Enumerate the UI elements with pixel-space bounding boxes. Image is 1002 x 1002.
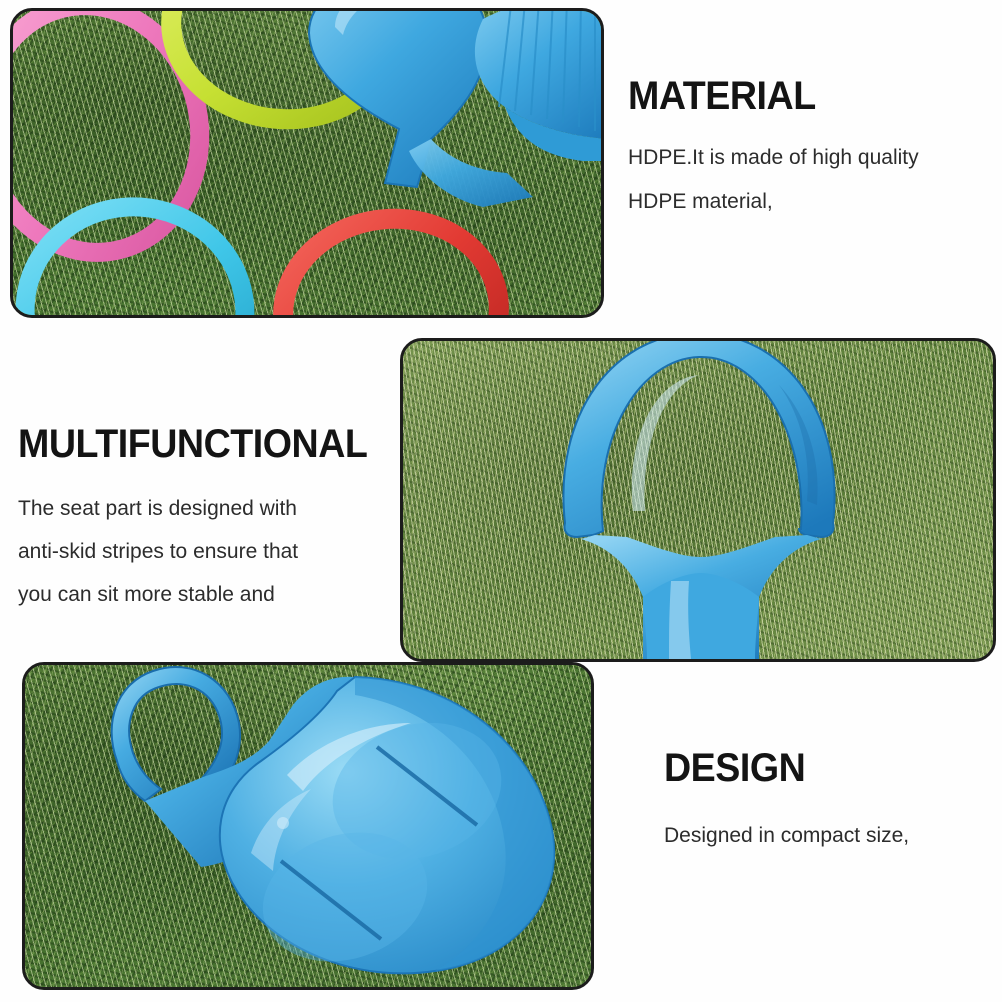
- text-block-material: MATERIAL HDPE.It is made of high quality…: [628, 76, 919, 214]
- body-line-multifunctional-2: anti-skid stripes to ensure that: [18, 540, 390, 564]
- text-block-multifunctional: MULTIFUNCTIONAL The seat part is designe…: [18, 424, 390, 607]
- body-line-material-2: HDPE material,: [628, 190, 919, 214]
- photo-panel-design: [22, 662, 594, 990]
- sled-handle-closeup-illustration: [403, 341, 993, 659]
- heading-multifunctional: MULTIFUNCTIONAL: [18, 424, 367, 464]
- photo-panel-multifunctional: [400, 338, 996, 662]
- body-line-design-1: Designed in compact size,: [664, 824, 909, 848]
- body-line-material-1: HDPE.It is made of high quality: [628, 146, 919, 170]
- body-line-multifunctional-3: you can sit more stable and: [18, 583, 390, 607]
- photo-panel-material: [10, 8, 604, 318]
- body-line-multifunctional-1: The seat part is designed with: [18, 497, 390, 521]
- heading-design: DESIGN: [664, 748, 894, 788]
- text-block-design: DESIGN Designed in compact size,: [664, 748, 909, 848]
- full-sled-illustration: [25, 665, 591, 987]
- rings-and-sled-illustration: [13, 11, 601, 315]
- heading-material: MATERIAL: [628, 76, 901, 116]
